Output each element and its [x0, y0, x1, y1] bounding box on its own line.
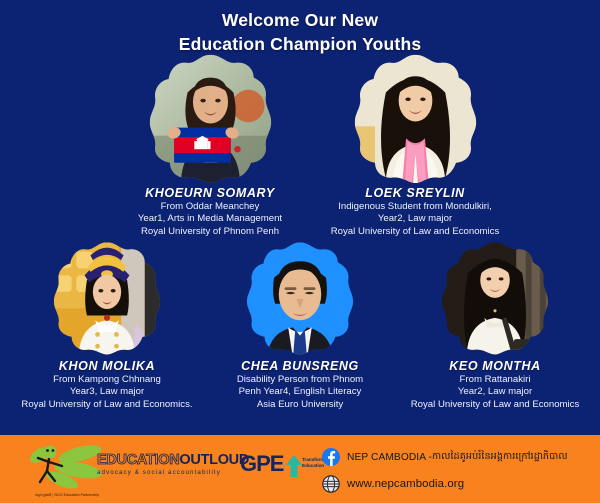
footer-bar: បណ្តាញអប់រំ | NGO Education Partnership …	[0, 435, 600, 503]
facebook-link[interactable]: NEP CAMBODIA - កាលដៃគូអប់រំនៃអង្គការក្រៅ…	[322, 445, 568, 469]
avatar	[436, 240, 554, 357]
person-description: From Rattanakiri Year2, Law major Royal …	[380, 374, 600, 411]
people-row-bottom: KHON MOLIKA From Kampong Chhnang Year3, …	[0, 240, 600, 432]
gpe-arrow-icon	[285, 454, 303, 478]
avatar	[143, 52, 278, 184]
person-desc-line1: From Rattanakiri	[380, 374, 600, 386]
scalloped-photo-frame	[348, 52, 483, 184]
person-name: LOEK SREYLIN	[300, 186, 530, 200]
person-name: KEO MONTHA	[380, 359, 600, 373]
eol-word-education: EDUCATION	[97, 452, 179, 468]
eol-tagline: advocacy & social accountability	[97, 469, 237, 476]
person-desc-line3: Royal University of Law and Economics	[300, 226, 530, 238]
person-card-keo-montha: KEO MONTHA From Rattanakiri Year2, Law m…	[380, 240, 600, 411]
facebook-icon	[322, 448, 340, 466]
page-title: Welcome Our New Education Champion Youth…	[0, 8, 600, 56]
poster-root: Welcome Our New Education Champion Youth…	[0, 0, 600, 503]
avatar	[48, 240, 166, 357]
scalloped-photo-frame	[143, 52, 278, 184]
facebook-label: NEP CAMBODIA -	[347, 452, 432, 463]
page-title-line1: Welcome Our New	[0, 8, 600, 32]
gpe-logo: GPE Transforming Education	[240, 452, 320, 482]
person-desc-line2: Year2, Law major	[300, 213, 530, 225]
person-card-khoeurn-somary: KHOEURN SOMARY From Oddar Meanchey Year1…	[95, 52, 325, 238]
person-name: KHOEURN SOMARY	[95, 186, 325, 200]
avatar	[348, 52, 483, 184]
scalloped-photo-frame	[48, 240, 166, 357]
scalloped-photo-frame	[241, 240, 359, 357]
eol-wordmark: EDUCATIONOUTLOUD	[97, 452, 237, 468]
gpe-acronym: GPE	[240, 452, 283, 476]
person-desc-line1: Indigenous Student from Mondulkiri,	[300, 201, 530, 213]
eol-word-out: OUT	[179, 452, 209, 468]
facebook-label-khmer: កាលដៃគូអប់រំនៃអង្គការក្រៅរដ្ឋាភិបាល	[432, 450, 568, 464]
person-description: From Oddar Meanchey Year1, Arts in Media…	[95, 201, 325, 238]
education-out-loud-logo: EDUCATIONOUTLOUD advocacy & social accou…	[97, 452, 237, 476]
people-row-top: KHOEURN SOMARY From Oddar Meanchey Year1…	[0, 52, 600, 242]
website-link[interactable]: www.nepcambodia.org	[322, 472, 568, 496]
website-label: www.nepcambodia.org	[347, 478, 464, 490]
globe-icon	[322, 475, 340, 493]
person-card-loek-sreylin: LOEK SREYLIN Indigenous Student from Mon…	[300, 52, 530, 238]
person-desc-line2: Year2, Law major	[380, 386, 600, 398]
avatar	[241, 240, 359, 357]
person-desc-line3: Royal University of Law and Economics	[380, 399, 600, 411]
social-links: NEP CAMBODIA - កាលដៃគូអប់រំនៃអង្គការក្រៅ…	[322, 445, 568, 496]
person-desc-line3: Royal University of Phnom Penh	[95, 226, 325, 238]
person-desc-line1: From Oddar Meanchey	[95, 201, 325, 213]
person-desc-line2: Year1, Arts in Media Management	[95, 213, 325, 225]
person-description: Indigenous Student from Mondulkiri, Year…	[300, 201, 530, 238]
scalloped-photo-frame	[436, 240, 554, 357]
nep-logo-caption: បណ្តាញអប់រំ | NGO Education Partnership	[24, 493, 110, 497]
